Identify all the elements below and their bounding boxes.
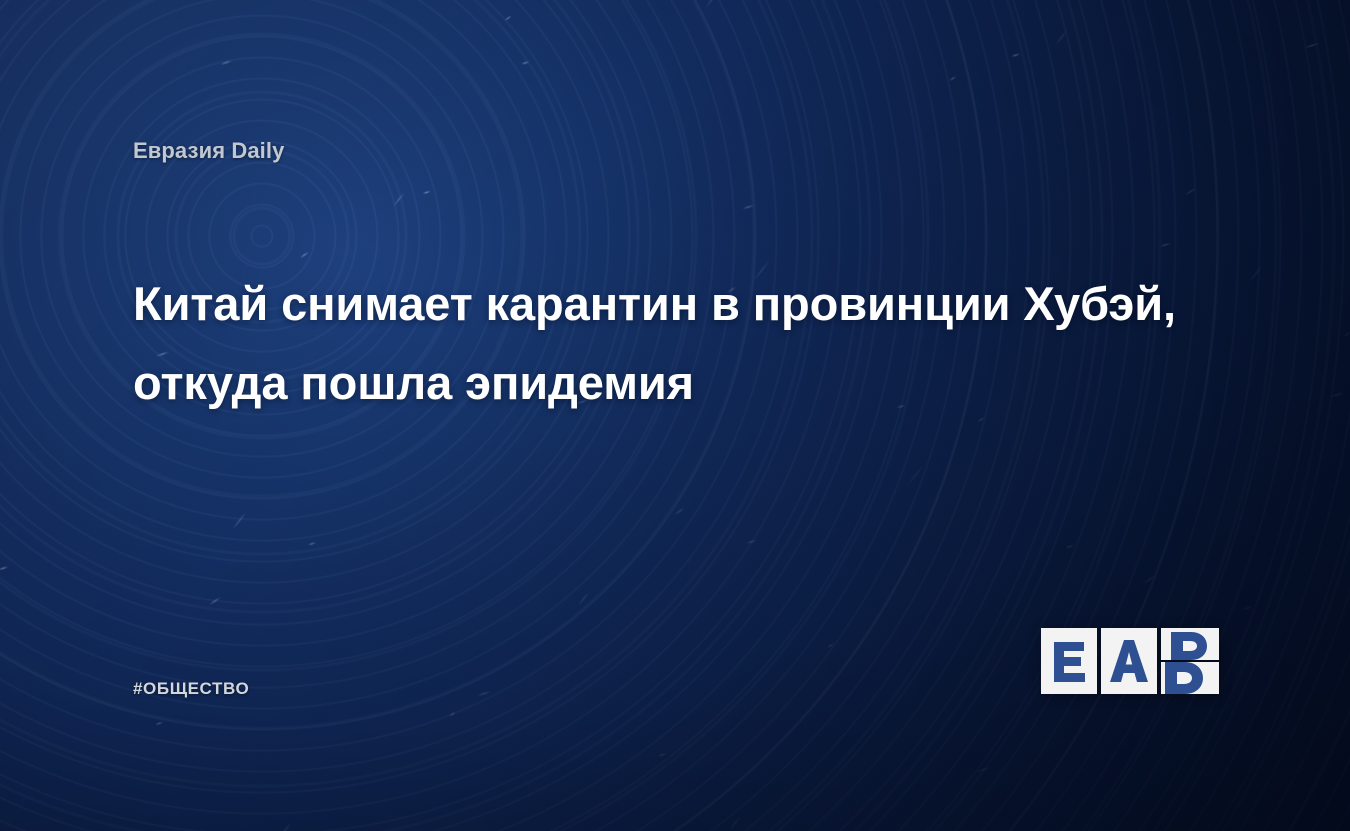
- share-card: Евразия Daily Китай снимает карантин в п…: [0, 0, 1350, 831]
- logo-tile-d-bottom: [1161, 662, 1219, 694]
- card-content: Евразия Daily Китай снимает карантин в п…: [0, 0, 1350, 831]
- logo-tile-d-top: [1161, 628, 1219, 660]
- logo-tile-d: [1161, 628, 1219, 694]
- brand-name: Евразия Daily: [133, 138, 284, 164]
- headline: Китай снимает карантин в провинции Хубэй…: [133, 264, 1193, 422]
- category-tag[interactable]: #ОБЩЕСТВО: [133, 679, 249, 699]
- eadaily-logo[interactable]: [1041, 628, 1219, 694]
- logo-tile-a: [1101, 628, 1157, 694]
- logo-tile-e: [1041, 628, 1097, 694]
